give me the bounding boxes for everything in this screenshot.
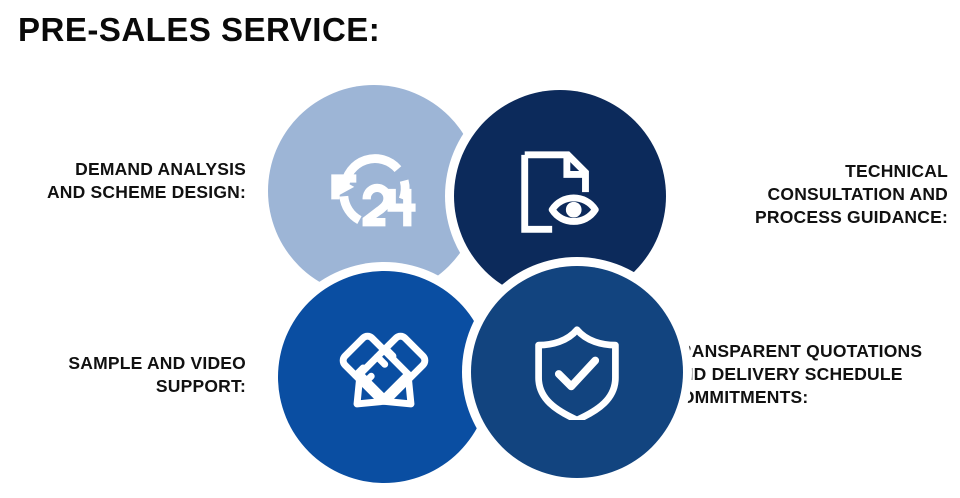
label-demand-analysis: DEMAND ANALYSIS AND SCHEME DESIGN: — [6, 158, 246, 204]
circle-cluster — [268, 85, 668, 483]
shield-check-icon — [529, 324, 625, 420]
pen-pencil-cross-icon — [331, 324, 437, 430]
circle-sample-video-support[interactable] — [278, 271, 490, 483]
24-hour-rotate-icon — [322, 139, 426, 243]
circle-transparent-quotations[interactable] — [471, 266, 683, 478]
label-sample-video-support: SAMPLE AND VIDEO SUPPORT: — [6, 352, 246, 398]
circle-demand-analysis[interactable] — [268, 85, 480, 297]
label-transparent-quotations: TRANSPARENT QUOTATIONS AND DELIVERY SCHE… — [668, 340, 960, 409]
document-eye-icon — [511, 147, 609, 245]
label-technical-consultation: TECHNICAL CONSULTATION AND PROCESS GUIDA… — [726, 160, 948, 229]
page-title: PRE-SALES SERVICE: — [18, 12, 380, 48]
